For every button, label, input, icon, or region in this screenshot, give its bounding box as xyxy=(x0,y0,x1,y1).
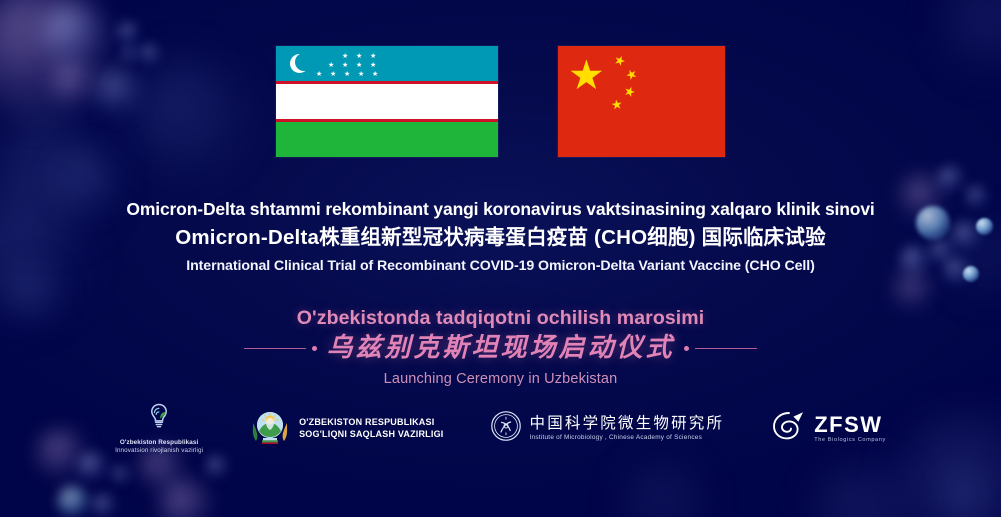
ceremony-english: Launching Ceremony in Uzbekistan xyxy=(0,368,1001,390)
china-flag: ★ ★ ★ ★ ★ xyxy=(558,46,725,157)
cas-seal-icon xyxy=(490,410,522,447)
ministry-of-health-logo: O'ZBEKISTON RESPUBLIKASI SOG'LIQNI SAQLA… xyxy=(249,405,443,452)
bokeh-bubble xyxy=(160,480,212,517)
logo-text: 中国科学院微生物研究所 Institute of Microbiology , … xyxy=(530,415,725,442)
rule-dot xyxy=(312,346,317,351)
logo-english-name: Institute of Microbiology , Chinese Acad… xyxy=(530,433,725,442)
logo-line-1: O'ZBEKISTON RESPUBLIKASI xyxy=(299,416,443,428)
logo-text: O'ZBEKISTON RESPUBLIKASI SOG'LIQNI SAQLA… xyxy=(299,416,443,440)
flag-star-small: ★ xyxy=(610,97,623,111)
logo-chinese-name: 中国科学院微生物研究所 xyxy=(530,415,725,433)
logo-line-2: Innovatsion rivojlanish vazirligi xyxy=(115,447,203,455)
title-chinese: Omicron-Delta株重组新型冠状病毒蛋白疫苗 (CHO细胞) 国际临床试… xyxy=(0,223,1001,253)
bokeh-bubble xyxy=(820,470,910,517)
bokeh-bubble xyxy=(92,494,116,517)
bokeh-bubble xyxy=(944,478,990,517)
zfsw-swoosh-icon xyxy=(770,409,806,448)
flag-star-large: ★ xyxy=(568,55,605,96)
logo-line-1: O'zbekiston Respublikasi xyxy=(120,439,198,447)
ornament-rule-right xyxy=(684,346,757,351)
title-uzbek: Omicron-Delta shtammi rekombinant yangi … xyxy=(0,196,1001,222)
flag-band-green xyxy=(276,122,498,157)
lightbulb-leaf-icon xyxy=(144,401,174,436)
bokeh-bubble xyxy=(206,456,228,478)
ornament-rule-left xyxy=(244,346,317,351)
logo-text: O'zbekiston Respublikasi Innovatsion riv… xyxy=(115,439,203,455)
flags-row: ★★★ ★★★★ ★★★★★ ★ ★ ★ ★ ★ xyxy=(0,46,1001,157)
uzbekistan-flag: ★★★ ★★★★ ★★★★★ xyxy=(276,46,498,157)
flag-band-white xyxy=(276,84,498,119)
ceremony-chinese-row: 乌兹别克斯坦现场启动仪式 xyxy=(0,332,1001,364)
logo-tagline: The Biologics Company xyxy=(814,436,886,444)
flag-star-small: ★ xyxy=(622,83,637,99)
rule-dot xyxy=(684,346,689,351)
ceremony-chinese: 乌兹别克斯坦现场启动仪式 xyxy=(326,332,674,364)
title-english: International Clinical Trial of Recombin… xyxy=(0,255,1001,277)
flag-star-small: ★ xyxy=(612,52,628,69)
bokeh-bubble xyxy=(118,22,140,44)
uzbekistan-state-emblem-icon xyxy=(249,405,291,452)
ministry-of-innovation-logo: O'zbekiston Respublikasi Innovatsion riv… xyxy=(115,401,203,455)
rule-line xyxy=(695,348,757,349)
ceremony-block: O'zbekistonda tadqiqotni ochilish marosi… xyxy=(0,305,1001,390)
institute-of-microbiology-cas-logo: 中国科学院微生物研究所 Institute of Microbiology , … xyxy=(490,410,725,447)
flag-star-small: ★ xyxy=(623,66,640,83)
crescent-moon-icon xyxy=(290,54,309,73)
logo-brand-name: ZFSW xyxy=(814,413,886,436)
logo-line-2: SOG'LIQNI SAQLASH VAZIRLIGI xyxy=(299,428,443,440)
bokeh-bubble xyxy=(896,272,932,308)
title-block: Omicron-Delta shtammi rekombinant yangi … xyxy=(0,196,1001,277)
bokeh-bubble xyxy=(58,486,88,516)
bokeh-bubble xyxy=(112,466,130,484)
rule-line xyxy=(244,348,306,349)
logo-row: O'zbekiston Respublikasi Innovatsion riv… xyxy=(0,398,1001,458)
bokeh-bubble xyxy=(938,166,964,192)
bokeh-bubble xyxy=(630,470,700,517)
flag-stars: ★★★ ★★★★ ★★★★★ xyxy=(318,53,398,77)
logo-text: ZFSW The Biologics Company xyxy=(814,413,886,444)
ceremony-uzbek: O'zbekistonda tadqiqotni ochilish marosi… xyxy=(0,305,1001,331)
zfsw-logo: ZFSW The Biologics Company xyxy=(770,409,886,448)
banner-stage: ★★★ ★★★★ ★★★★★ ★ ★ ★ ★ ★ Omicron-Delta s… xyxy=(0,0,1001,517)
